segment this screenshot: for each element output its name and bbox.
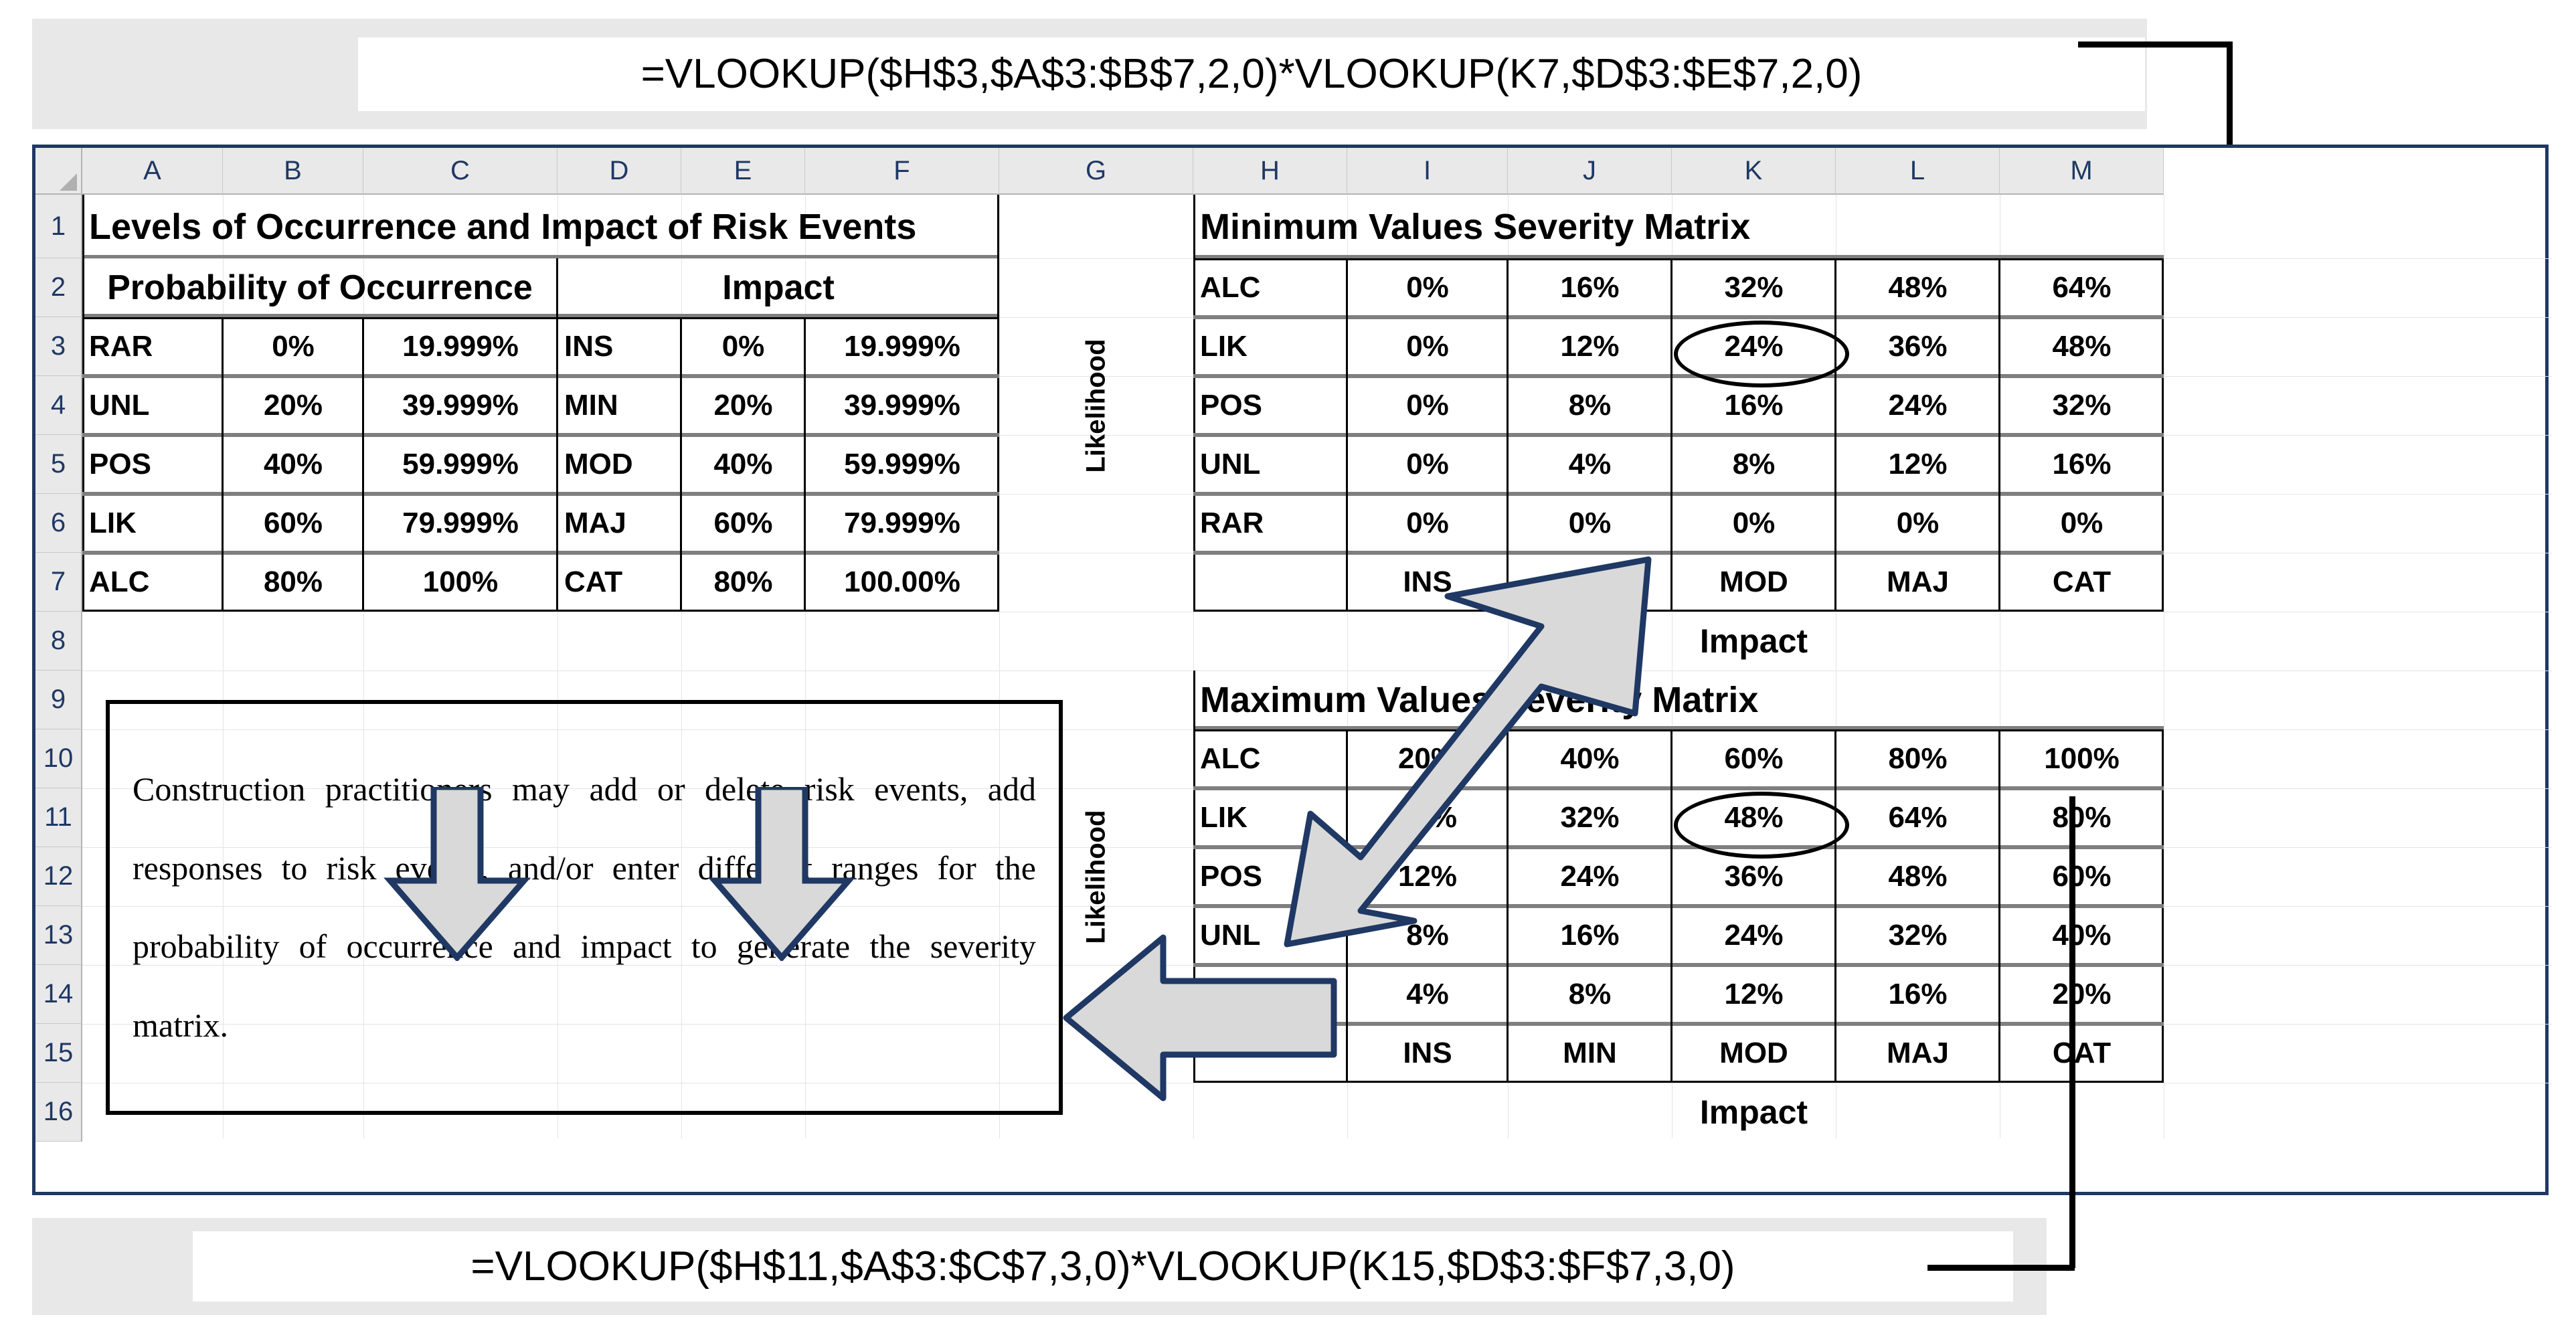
column-header-g[interactable]: G bbox=[999, 148, 1193, 195]
down-arrow-impact bbox=[708, 787, 855, 961]
spreadsheet-grid[interactable]: A B C D E F G H I J K L M 1 2 3 4 5 6 7 … bbox=[32, 145, 2549, 1195]
left-table-colsep bbox=[556, 258, 558, 612]
max-matrix-impact-axis: Impact bbox=[1672, 1083, 1836, 1142]
left-table-group-probability[interactable]: Probability of Occurrence bbox=[82, 258, 557, 317]
column-header-i[interactable]: I bbox=[1347, 148, 1508, 195]
column-header-e[interactable]: E bbox=[681, 148, 805, 195]
column-header-a[interactable]: A bbox=[82, 148, 223, 195]
column-header-d-label: D bbox=[610, 156, 629, 186]
column-header-j-label: J bbox=[1583, 156, 1596, 186]
row-header-4-label: 4 bbox=[51, 390, 66, 420]
column-header-i-label: I bbox=[1424, 156, 1431, 186]
note-textbox[interactable]: Construction practitioners may add or de… bbox=[106, 700, 1063, 1115]
min-matrix-rowsep bbox=[1193, 374, 2164, 378]
column-header-j[interactable]: J bbox=[1508, 148, 1672, 195]
row-header-12[interactable]: 12 bbox=[35, 847, 82, 906]
row-header-9[interactable]: 9 bbox=[35, 671, 82, 729]
diagonal-arrow-to-min-matrix bbox=[1247, 546, 1662, 954]
gridline-v bbox=[2164, 195, 2164, 1138]
row-header-14-label: 14 bbox=[44, 979, 74, 1009]
bottom-formula-bar: =VLOOKUP($H$11,$A$3:$C$7,3,0)*VLOOKUP(K1… bbox=[32, 1218, 2047, 1315]
left-table-title[interactable]: Levels of Occurrence and Impact of Risk … bbox=[82, 195, 999, 258]
min-matrix-impact-axis: Impact bbox=[1672, 612, 1836, 671]
column-header-m-label: M bbox=[2070, 156, 2092, 186]
bottom-leader-horizontal bbox=[1927, 1265, 2075, 1271]
row-header-2-label: 2 bbox=[51, 272, 66, 302]
column-header-l[interactable]: L bbox=[1836, 148, 2000, 195]
left-arrow-to-note bbox=[1059, 921, 1341, 1115]
left-table-rowsep bbox=[82, 374, 999, 378]
row-header-8[interactable]: 8 bbox=[35, 612, 82, 671]
left-table-colsep bbox=[222, 317, 224, 612]
max-matrix-colsep bbox=[1834, 729, 1836, 1083]
row-header-12-label: 12 bbox=[44, 861, 74, 891]
min-matrix-title[interactable]: Minimum Values Severity Matrix bbox=[1193, 195, 2164, 258]
column-header-b[interactable]: B bbox=[223, 148, 363, 195]
left-table-group-impact[interactable]: Impact bbox=[557, 258, 999, 317]
column-header-c-label: C bbox=[450, 156, 470, 186]
min-matrix-likelihood-label: Likelihood bbox=[1082, 339, 1112, 472]
row-header-5-label: 5 bbox=[51, 449, 66, 479]
row-header-7-label: 7 bbox=[51, 567, 66, 597]
row-header-16[interactable]: 16 bbox=[35, 1083, 82, 1142]
row-header-2[interactable]: 2 bbox=[35, 258, 82, 317]
column-header-f[interactable]: F bbox=[805, 148, 999, 195]
column-header-a-label: A bbox=[143, 156, 161, 186]
row-header-8-label: 8 bbox=[51, 626, 66, 656]
column-header-d[interactable]: D bbox=[557, 148, 681, 195]
row-header-15-label: 15 bbox=[44, 1038, 74, 1068]
max-matrix-colsep bbox=[1670, 729, 1672, 1083]
row-header-15[interactable]: 15 bbox=[35, 1024, 82, 1083]
down-arrow-probability bbox=[383, 787, 531, 961]
row-header-1[interactable]: 1 bbox=[35, 195, 82, 258]
row-header-13-label: 13 bbox=[44, 920, 74, 950]
left-table-colsep bbox=[680, 317, 682, 612]
min-matrix-likelihood-axis: Likelihood bbox=[999, 258, 1193, 553]
left-table-left-edge bbox=[82, 195, 84, 317]
spreadsheet-screenshot: =VLOOKUP($H$3,$A$3:$B$7,2,0)*VLOOKUP(K7,… bbox=[0, 0, 2576, 1329]
row-header-5[interactable]: 5 bbox=[35, 435, 82, 494]
row-header-4[interactable]: 4 bbox=[35, 376, 82, 435]
column-header-h[interactable]: H bbox=[1193, 148, 1347, 195]
select-all-corner[interactable] bbox=[35, 148, 82, 195]
min-matrix-colsep bbox=[1670, 258, 1672, 612]
top-formula-bar: =VLOOKUP($H$3,$A$3:$B$7,2,0)*VLOOKUP(K7,… bbox=[32, 19, 2147, 129]
column-header-g-label: G bbox=[1086, 156, 1106, 186]
row-header-9-label: 9 bbox=[51, 685, 66, 715]
row-header-16-label: 16 bbox=[44, 1097, 74, 1127]
row-header-11[interactable]: 11 bbox=[35, 788, 82, 847]
row-header-10-label: 10 bbox=[44, 743, 74, 774]
column-header-e-label: E bbox=[734, 156, 752, 186]
bottom-formula-text: =VLOOKUP($H$11,$A$3:$C$7,3,0)*VLOOKUP(K1… bbox=[193, 1231, 2013, 1302]
row-header-13[interactable]: 13 bbox=[35, 906, 82, 965]
left-table-rowsep bbox=[82, 492, 999, 496]
column-header-b-label: B bbox=[284, 156, 302, 186]
min-matrix-colsep bbox=[1834, 258, 1836, 612]
max-matrix-title-left-edge bbox=[1193, 671, 1195, 729]
top-formula-text: =VLOOKUP($H$3,$A$3:$B$7,2,0)*VLOOKUP(K7,… bbox=[358, 37, 2145, 111]
column-header-l-label: L bbox=[1910, 156, 1925, 186]
row-header-6-label: 6 bbox=[51, 508, 66, 538]
min-matrix-rowsep bbox=[1193, 315, 2164, 319]
column-header-k[interactable]: K bbox=[1672, 148, 1836, 195]
left-table-outline bbox=[82, 317, 999, 612]
left-table-colsep bbox=[804, 317, 806, 612]
row-header-7[interactable]: 7 bbox=[35, 553, 82, 612]
left-table-rowsep bbox=[82, 551, 999, 555]
min-matrix-title-left-edge bbox=[1193, 195, 1195, 258]
column-header-c[interactable]: C bbox=[363, 148, 557, 195]
min-matrix-rowsep bbox=[1193, 492, 2164, 496]
min-matrix-colsep bbox=[1998, 258, 2000, 612]
row-header-11-label: 11 bbox=[44, 802, 72, 832]
column-header-f-label: F bbox=[893, 156, 910, 186]
max-matrix-colsep bbox=[1998, 729, 2000, 1083]
bottom-leader-vertical bbox=[2069, 796, 2075, 1268]
column-header-h-label: H bbox=[1260, 156, 1280, 186]
left-table-colsep bbox=[362, 317, 364, 612]
row-header-10[interactable]: 10 bbox=[35, 729, 82, 788]
row-header-6[interactable]: 6 bbox=[35, 494, 82, 553]
row-header-14[interactable]: 14 bbox=[35, 965, 82, 1024]
min-matrix-rowsep bbox=[1193, 433, 2164, 437]
column-header-m[interactable]: M bbox=[2000, 148, 2164, 195]
row-header-3[interactable]: 3 bbox=[35, 317, 82, 376]
column-header-k-label: K bbox=[1745, 156, 1763, 186]
row-header-1-label: 1 bbox=[51, 211, 66, 242]
row-header-3-label: 3 bbox=[51, 331, 66, 361]
left-table-rowsep bbox=[82, 433, 999, 437]
top-leader-horizontal bbox=[2078, 41, 2232, 48]
note-text: Construction practitioners may add or de… bbox=[110, 750, 1059, 1065]
